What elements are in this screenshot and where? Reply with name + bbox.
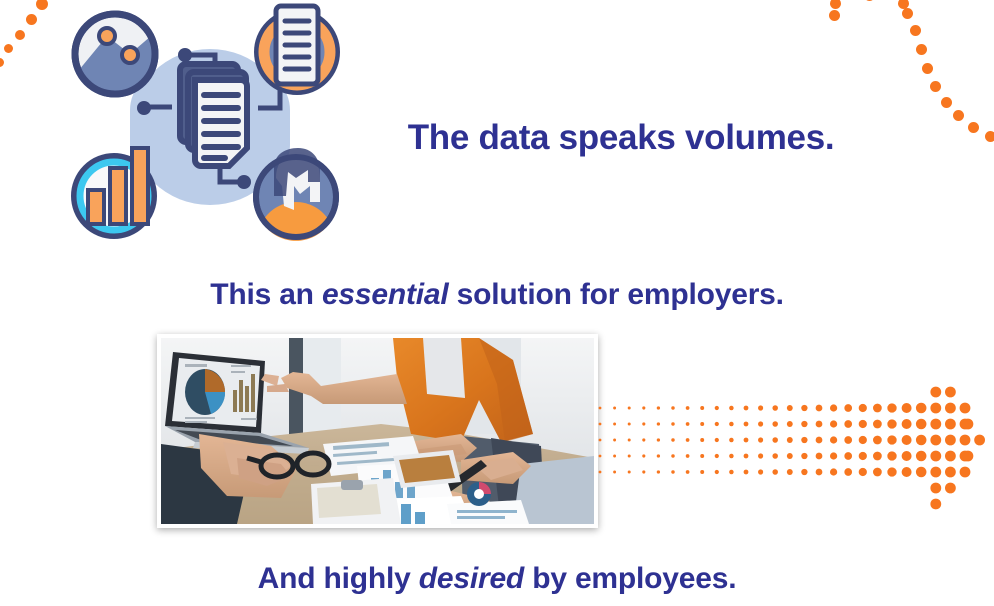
arrow-dot <box>963 451 974 462</box>
arrow-dot <box>628 471 631 474</box>
arrow-dot <box>729 438 733 442</box>
arrow-dot <box>642 470 645 473</box>
arrow-dot <box>916 451 927 462</box>
arrow-dot <box>916 435 927 446</box>
arrow-dot <box>830 452 837 459</box>
arrow-dot <box>700 438 704 442</box>
arrow-dot <box>902 403 912 413</box>
arrow-dot <box>715 454 719 458</box>
arrow-dot <box>844 420 852 428</box>
arrow-dot <box>916 467 927 478</box>
line-chart-icon <box>75 14 155 94</box>
subheading-employers-tail: solution for employers. <box>449 278 784 311</box>
arrow-dot <box>657 422 660 425</box>
arrow-dot <box>700 406 704 410</box>
arrow-dot <box>671 470 674 473</box>
arrow-dot <box>642 406 645 409</box>
decorative-dot <box>829 10 840 21</box>
arrow-dot <box>787 469 793 475</box>
arrow-dot <box>613 423 616 426</box>
decorative-dot <box>864 0 875 1</box>
slide-canvas: The data speaks volumes. This an essenti… <box>0 0 994 606</box>
arrow-dot <box>599 471 602 474</box>
arrow-dot <box>945 435 956 446</box>
arrow-dot <box>715 438 719 442</box>
arrow-dot <box>930 435 941 446</box>
subheading-employees-emphasis: desired <box>419 562 524 595</box>
arrow-dot <box>657 470 660 473</box>
business-team-reviewing-data-photo <box>157 334 598 528</box>
arrow-dot <box>916 403 927 414</box>
arrow-dot <box>960 467 971 478</box>
decorative-dot <box>898 0 909 9</box>
arrow-dot <box>873 436 882 445</box>
arrow-dot <box>887 467 896 476</box>
arrow-dot <box>758 437 763 442</box>
arrow-dot <box>887 403 896 412</box>
arrow-dot <box>801 437 807 443</box>
arrow-dot <box>599 439 602 442</box>
arrow-dot <box>744 422 749 427</box>
arrow-dot <box>945 483 956 494</box>
dotted-arrow-right <box>596 382 994 518</box>
arrow-dot <box>930 387 941 398</box>
subheading-employees: And highly desired by employees. <box>0 562 994 595</box>
arrow-dot <box>801 469 807 475</box>
arrow-dot <box>916 419 927 430</box>
subheading-employers-lead: This an <box>210 278 322 311</box>
decorative-dot <box>910 25 921 36</box>
arrow-dot <box>671 438 674 441</box>
arrow-dot <box>744 454 749 459</box>
arrow-dot <box>873 420 882 429</box>
arrow-dot <box>686 406 690 410</box>
arrow-dot <box>599 455 602 458</box>
decorative-dot <box>36 0 48 10</box>
arrow-dot <box>671 454 674 457</box>
arrow-dot <box>830 420 837 427</box>
arrow-dot <box>887 419 896 428</box>
arrow-dot <box>873 452 882 461</box>
decorative-dot <box>26 14 37 25</box>
decorative-dot <box>941 97 952 108</box>
arrow-dot <box>930 419 941 430</box>
arrow-dot <box>787 421 793 427</box>
arrow-dot <box>628 423 631 426</box>
arrow-dot <box>657 406 660 409</box>
subheading-employees-lead: And highly <box>258 562 419 595</box>
arrow-dot <box>599 423 602 426</box>
arrow-dot <box>859 436 867 444</box>
arrow-dot <box>700 454 704 458</box>
arrow-dot <box>859 404 867 412</box>
arrow-dot <box>902 451 912 461</box>
arrow-dot <box>729 422 733 426</box>
arrow-dot <box>801 453 807 459</box>
arrow-dot <box>772 469 778 475</box>
arrow-dot <box>830 468 837 475</box>
arrow-dot <box>671 406 674 409</box>
arrow-dot <box>599 407 602 410</box>
arrow-dot <box>613 471 616 474</box>
arrow-dot <box>930 451 941 462</box>
arrow-dot <box>887 435 896 444</box>
page-headline: The data speaks volumes. <box>0 119 994 158</box>
arrow-dot <box>816 469 823 476</box>
arrow-dot <box>844 436 852 444</box>
arrow-dot <box>628 455 631 458</box>
decorative-dot <box>916 44 927 55</box>
arrow-dot <box>729 406 733 410</box>
arrow-dot <box>772 421 778 427</box>
arrow-dot <box>930 483 941 494</box>
arrow-dot <box>744 470 749 475</box>
arrow-dot <box>816 437 823 444</box>
arrow-dot <box>657 438 660 441</box>
arrow-dot <box>613 439 616 442</box>
arrow-dot <box>642 438 645 441</box>
arrow-dot <box>613 407 616 410</box>
arrow-dot <box>873 404 882 413</box>
arrow-dot <box>686 438 690 442</box>
arrow-dot <box>715 422 719 426</box>
arrow-dot <box>945 387 956 398</box>
arrow-dot <box>772 453 778 459</box>
arrow-dot <box>844 468 852 476</box>
decorative-dot <box>930 81 941 92</box>
arrow-dot <box>758 453 763 458</box>
arrow-dot <box>628 407 631 410</box>
arrow-dot <box>963 419 974 430</box>
arrow-dot <box>628 439 631 442</box>
arrow-dot <box>787 405 793 411</box>
arrow-dot <box>686 470 690 474</box>
arrow-dot <box>859 452 867 460</box>
arrow-dot <box>686 422 690 426</box>
decorative-dot <box>830 0 841 9</box>
arrow-dot <box>700 470 704 474</box>
arrow-dot <box>787 437 793 443</box>
arrow-dot <box>772 405 778 411</box>
arrow-dot <box>930 499 941 510</box>
arrow-dot <box>830 436 837 443</box>
arrow-dot <box>772 437 778 443</box>
arrow-dot <box>729 454 733 458</box>
arrow-dot <box>859 420 867 428</box>
arrow-dot <box>816 405 823 412</box>
arrow-dot <box>729 470 733 474</box>
arrow-dot <box>873 468 882 477</box>
subheading-employees-tail: by employees. <box>524 562 736 595</box>
arrow-dot <box>686 454 690 458</box>
arrow-dot <box>945 419 956 430</box>
arrow-dot <box>945 451 956 462</box>
subheading-employers: This an essential solution for employers… <box>0 278 994 311</box>
arrow-dot <box>930 403 941 414</box>
decorative-dot <box>902 8 913 19</box>
arrow-dot <box>945 403 956 414</box>
arrow-dot <box>671 422 674 425</box>
arrow-dot <box>902 435 912 445</box>
arrow-dot <box>945 467 956 478</box>
decorative-dot <box>4 44 13 53</box>
arrow-dot <box>657 454 660 457</box>
arrow-dot <box>613 455 616 458</box>
arrow-dot <box>960 451 971 462</box>
arrow-dot <box>758 405 763 410</box>
arrow-dot <box>642 454 645 457</box>
arrow-dot <box>844 404 852 412</box>
photo-canvas <box>161 338 594 524</box>
arrow-dot <box>960 403 971 414</box>
arrow-dot <box>974 435 985 446</box>
subheading-employers-emphasis: essential <box>322 278 449 311</box>
decorative-dot <box>922 63 933 74</box>
decorative-dot <box>0 58 4 67</box>
dot-strand-top-left <box>0 0 70 60</box>
arrow-dot <box>960 419 971 430</box>
arrow-dot <box>758 469 763 474</box>
arrow-dot <box>830 404 837 411</box>
arrow-dot <box>642 422 645 425</box>
arrow-dot <box>700 422 704 426</box>
arrow-dot <box>859 468 867 476</box>
arrow-dot <box>816 421 823 428</box>
arrow-dot <box>758 421 763 426</box>
decorative-dot <box>15 30 25 40</box>
arrow-dot <box>902 467 912 477</box>
arrow-dot <box>715 406 719 410</box>
arrow-dot <box>816 453 823 460</box>
arrow-dot <box>844 452 852 460</box>
arrow-dot <box>887 451 896 460</box>
arrow-dot <box>801 421 807 427</box>
arrow-dot <box>715 470 719 474</box>
arrow-dot <box>787 453 793 459</box>
document-list-icon <box>257 6 337 92</box>
arrow-dot <box>902 419 912 429</box>
bar-chart-icon <box>73 148 155 237</box>
arrow-dot <box>801 405 807 411</box>
arrow-dot <box>744 406 749 411</box>
arrow-dot <box>744 438 749 443</box>
arrow-dot <box>960 435 971 446</box>
arrow-dot <box>930 467 941 478</box>
